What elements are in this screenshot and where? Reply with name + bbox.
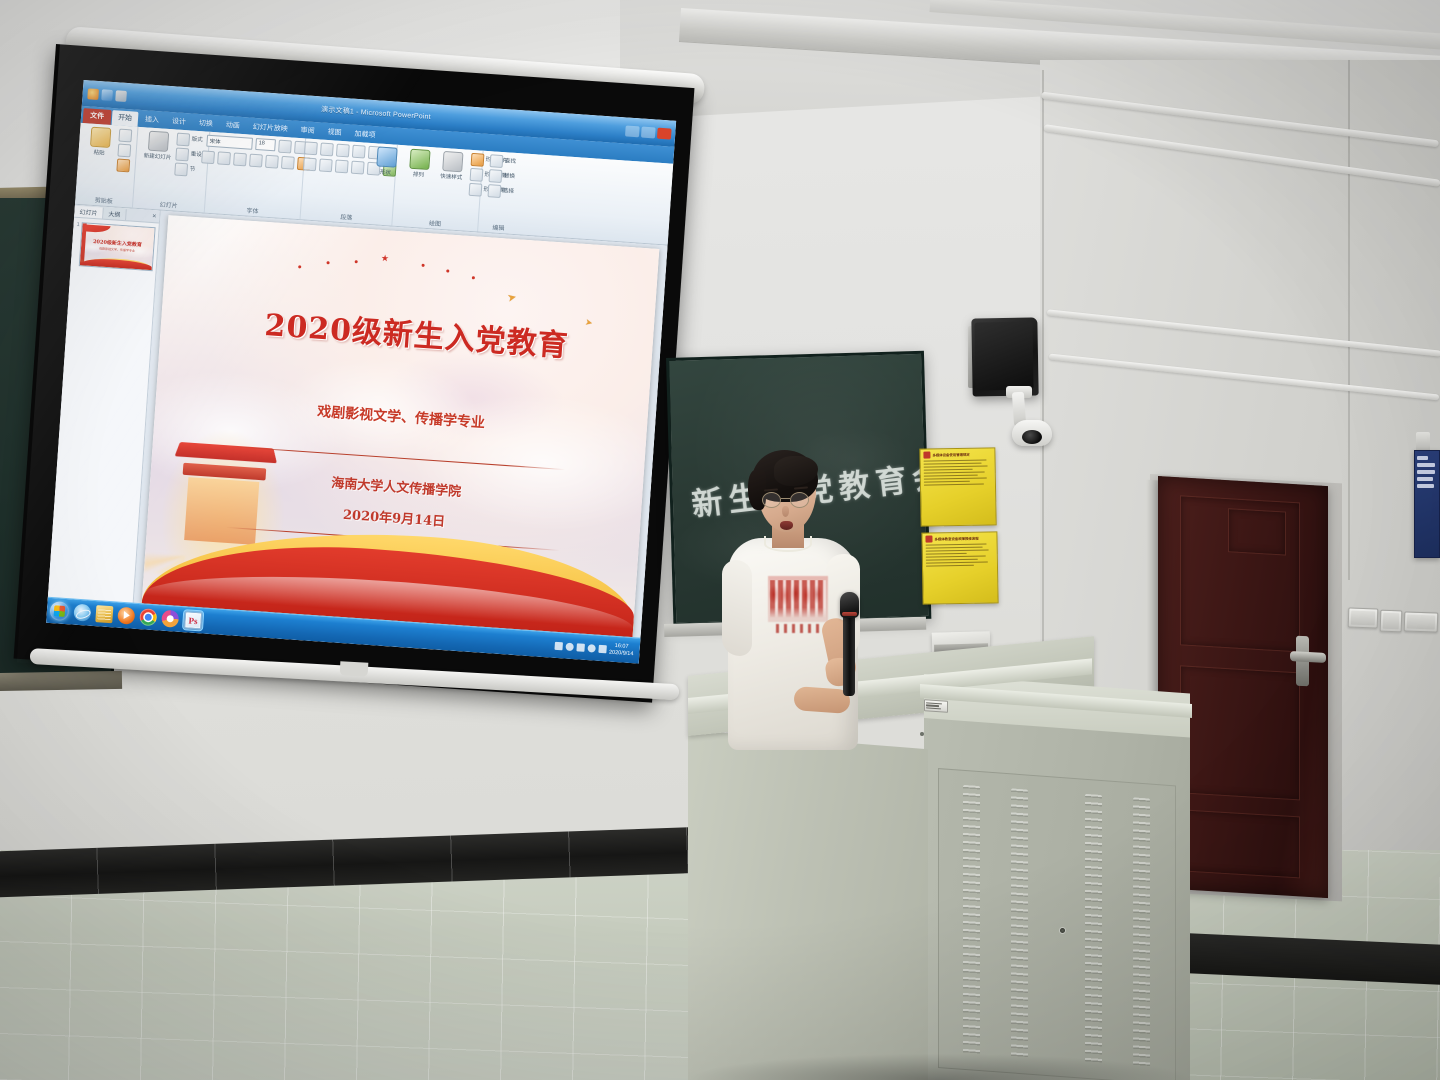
slide-canvas[interactable]: ★ ➤ ➤ ➤ 2020级新生入党教育 戏剧影视文学、传播学专业 — [142, 215, 660, 637]
file-manager-icon[interactable] — [95, 605, 113, 623]
taskbar-clock[interactable]: 16:07 2020/9/14 — [609, 642, 634, 657]
new-slide-button[interactable]: 新建幻灯片 — [142, 130, 174, 161]
clock-date: 2020/9/14 — [609, 649, 634, 658]
replace-icon[interactable] — [488, 169, 502, 183]
speaker-shirt-collar — [764, 536, 812, 552]
power-socket-plate[interactable] — [1380, 610, 1403, 633]
font-name-input[interactable]: 宋体 — [206, 135, 253, 150]
new-slide-icon — [148, 131, 169, 152]
star-dot-4 — [421, 263, 424, 266]
photoshop-icon[interactable]: Ps — [184, 611, 202, 629]
tab-transitions[interactable]: 切换 — [192, 116, 219, 133]
slide-thumbnail[interactable]: 2020级新生入党教育 戏剧影视文学、传播学专业 — [79, 222, 156, 271]
notice-board-upper: 多媒体设备使用管理规定 — [919, 447, 996, 526]
strikethrough-icon[interactable] — [265, 155, 279, 169]
increase-font-icon[interactable] — [278, 140, 292, 154]
panel-tab-outline[interactable]: 大纲 — [103, 207, 127, 220]
tab-insert[interactable]: 插入 — [138, 112, 165, 129]
tab-animations[interactable]: 动画 — [219, 117, 246, 134]
bold-icon[interactable] — [201, 150, 215, 164]
vent-slots-3 — [1085, 794, 1102, 1065]
paste-icon — [90, 127, 111, 148]
numbering-icon[interactable] — [320, 142, 334, 156]
copy-icon[interactable] — [117, 143, 131, 157]
vent-slots-4 — [1133, 797, 1150, 1068]
select-icon[interactable] — [487, 184, 501, 198]
screen-surface: 演示文稿1 - Microsoft PowerPoint 文件 开始 插入 设计… — [46, 80, 676, 664]
save-icon[interactable] — [87, 88, 99, 100]
quick-styles-icon — [442, 151, 463, 172]
lectern-corner-screw — [920, 732, 924, 736]
lectern-floor-shadow — [690, 1054, 1190, 1080]
undo-icon[interactable] — [101, 89, 113, 101]
reset-label: 重设 — [190, 150, 202, 159]
internet-explorer-icon[interactable] — [73, 604, 91, 622]
start-orb-icon[interactable] — [49, 601, 69, 621]
character-spacing-icon[interactable] — [281, 156, 295, 170]
speaker-left-arm — [722, 560, 752, 656]
window-controls[interactable] — [625, 125, 676, 139]
tab-design[interactable]: 设计 — [165, 114, 192, 131]
increase-indent-icon[interactable] — [352, 145, 366, 159]
italic-icon[interactable] — [217, 151, 231, 165]
minimize-button[interactable] — [625, 125, 640, 137]
sign-mount-hook — [1416, 432, 1430, 452]
notice-badge-icon — [923, 451, 930, 458]
door-panel-bottom — [1180, 809, 1300, 878]
classroom-scene: 演示文稿1 - Microsoft PowerPoint 文件 开始 插入 设计… — [0, 0, 1440, 1080]
chalkboard-left-tray — [0, 671, 122, 691]
ribbon-group-editing[interactable]: 查找 替换 选择 编辑 — [478, 151, 523, 235]
notice-board-lower: 多媒体教室设备故障报修流程 — [921, 531, 998, 604]
find-label: 查找 — [505, 156, 517, 165]
chrome-icon[interactable] — [139, 608, 157, 626]
wall-seam-right — [1348, 60, 1350, 580]
redo-icon[interactable] — [115, 90, 127, 102]
camera-lens — [1022, 430, 1042, 444]
door-handle[interactable] — [1290, 651, 1326, 663]
arrange-icon — [409, 149, 430, 170]
arrange-label: 排列 — [413, 170, 425, 179]
close-icon[interactable]: × — [152, 213, 160, 220]
tshirt-graphic-figures — [770, 580, 826, 618]
notice-badge-icon-lower — [925, 535, 932, 542]
powerpoint-window[interactable]: 演示文稿1 - Microsoft PowerPoint 文件 开始 插入 设计… — [46, 80, 676, 664]
blue-wall-sign — [1414, 450, 1440, 558]
section-label: 节 — [189, 165, 195, 173]
ribbon-group-drawing[interactable]: 形状 排列 快速样式 — [392, 145, 483, 232]
tray-battery-icon[interactable] — [598, 644, 607, 653]
lens-left — [762, 492, 781, 508]
tab-review[interactable]: 审阅 — [294, 123, 321, 140]
paste-button[interactable]: 粘贴 — [84, 126, 116, 157]
star-dot-1 — [298, 265, 301, 268]
screen-pull-tab[interactable] — [340, 661, 369, 676]
star-dot-6 — [472, 276, 475, 279]
light-switch-plate-2[interactable] — [1404, 611, 1439, 632]
shadow-icon[interactable] — [249, 154, 263, 168]
find-icon[interactable] — [490, 154, 504, 168]
tray-action-center-icon[interactable] — [565, 642, 574, 651]
shapes-label: 形状 — [380, 168, 392, 177]
align-center-icon[interactable] — [319, 158, 333, 172]
door-panel-middle — [1180, 665, 1300, 800]
reset-icon[interactable] — [175, 148, 189, 162]
decrease-indent-icon[interactable] — [336, 144, 350, 158]
speaker-nose — [782, 506, 789, 517]
door-panel-inset — [1228, 508, 1286, 555]
tray-input-method-icon[interactable] — [587, 644, 596, 653]
layout-label: 版式 — [192, 135, 204, 144]
justify-icon[interactable] — [351, 161, 365, 175]
section-icon[interactable] — [174, 162, 188, 176]
font-size-input[interactable]: 18 — [255, 138, 276, 151]
star-dot-2 — [327, 262, 330, 265]
notice-title-upper: 多媒体设备使用管理规定 — [932, 452, 969, 458]
ribbon-group-clipboard[interactable]: 粘贴 剪贴板 — [75, 123, 138, 208]
powerpoint-body: 幻灯片 大纲 × 1 2020级 — [48, 205, 668, 642]
system-tray[interactable]: 16:07 2020/9/14 — [554, 638, 637, 657]
tray-volume-icon[interactable] — [576, 643, 585, 652]
glasses-bridge — [781, 498, 790, 499]
notice-body-upper — [921, 458, 995, 487]
shapes-button[interactable]: 形状 — [370, 146, 402, 177]
vent-slots-1 — [963, 785, 980, 1056]
tshirt-graphic-caption — [776, 624, 822, 633]
paste-label: 粘贴 — [93, 148, 105, 157]
star-icon: ★ — [381, 254, 390, 264]
wall-speaker-icon — [971, 317, 1038, 396]
editing-group-label: 编辑 — [478, 222, 519, 234]
select-label: 选择 — [503, 186, 515, 195]
browser-icon[interactable] — [161, 610, 179, 628]
arrange-button[interactable]: 排列 — [403, 148, 435, 179]
ribbon-group-font[interactable]: 宋体 18 — [205, 132, 306, 219]
lectern-lock[interactable] — [1060, 928, 1065, 933]
notice-body-lower — [923, 542, 997, 568]
projection-screen: 演示文稿1 - Microsoft PowerPoint 文件 开始 插入 设计… — [14, 44, 695, 703]
microphone-accent-ring — [842, 612, 857, 616]
quick-styles-label: 快速样式 — [440, 172, 463, 181]
quick-access-toolbar[interactable] — [82, 87, 127, 101]
tab-home[interactable]: 开始 — [112, 110, 139, 127]
media-player-icon[interactable] — [117, 607, 135, 625]
format-painter-icon[interactable] — [116, 158, 130, 172]
star-dot-3 — [355, 260, 358, 263]
lectern-front-panel — [688, 730, 928, 1080]
close-button[interactable] — [657, 127, 672, 139]
ribbon-group-slides[interactable]: 新建幻灯片 版式 重设 — [133, 127, 210, 213]
photoshop-taskbar-button[interactable]: Ps — [183, 610, 203, 630]
align-right-icon[interactable] — [335, 160, 349, 174]
new-slide-label: 新建幻灯片 — [143, 151, 171, 161]
replace-label: 替换 — [504, 171, 516, 180]
align-left-icon[interactable] — [303, 157, 317, 171]
underline-icon[interactable] — [233, 153, 247, 167]
thumbnail-row[interactable]: 1 2020级新生入党教育 戏剧影视文学、传播学专业 — [70, 218, 158, 276]
notice-title-lower: 多媒体教室设备故障报修流程 — [934, 536, 978, 542]
lectern-cabinet-door[interactable] — [938, 768, 1176, 1080]
star-dot-5 — [447, 270, 450, 273]
vent-slots-2 — [1011, 788, 1028, 1059]
maximize-button[interactable] — [641, 126, 656, 138]
shapes-icon — [376, 146, 397, 167]
speaker-mouth — [780, 521, 793, 530]
microphone-body[interactable] — [843, 614, 855, 696]
cut-icon[interactable] — [118, 129, 132, 143]
panel-tab-slides[interactable]: 幻灯片 — [74, 205, 104, 218]
quick-styles-button[interactable]: 快速样式 — [436, 151, 468, 182]
layout-icon[interactable] — [176, 133, 190, 147]
slide-editing-area[interactable]: ★ ➤ ➤ ➤ 2020级新生入党教育 戏剧影视文学、传播学专业 — [133, 211, 667, 642]
lectern-asset-label — [924, 699, 948, 713]
tab-view[interactable]: 视图 — [321, 125, 348, 142]
bullets-icon[interactable] — [304, 141, 318, 155]
light-switch-plate-1[interactable] — [1348, 607, 1379, 628]
tray-network-icon[interactable] — [554, 641, 563, 650]
lens-right — [790, 492, 809, 508]
